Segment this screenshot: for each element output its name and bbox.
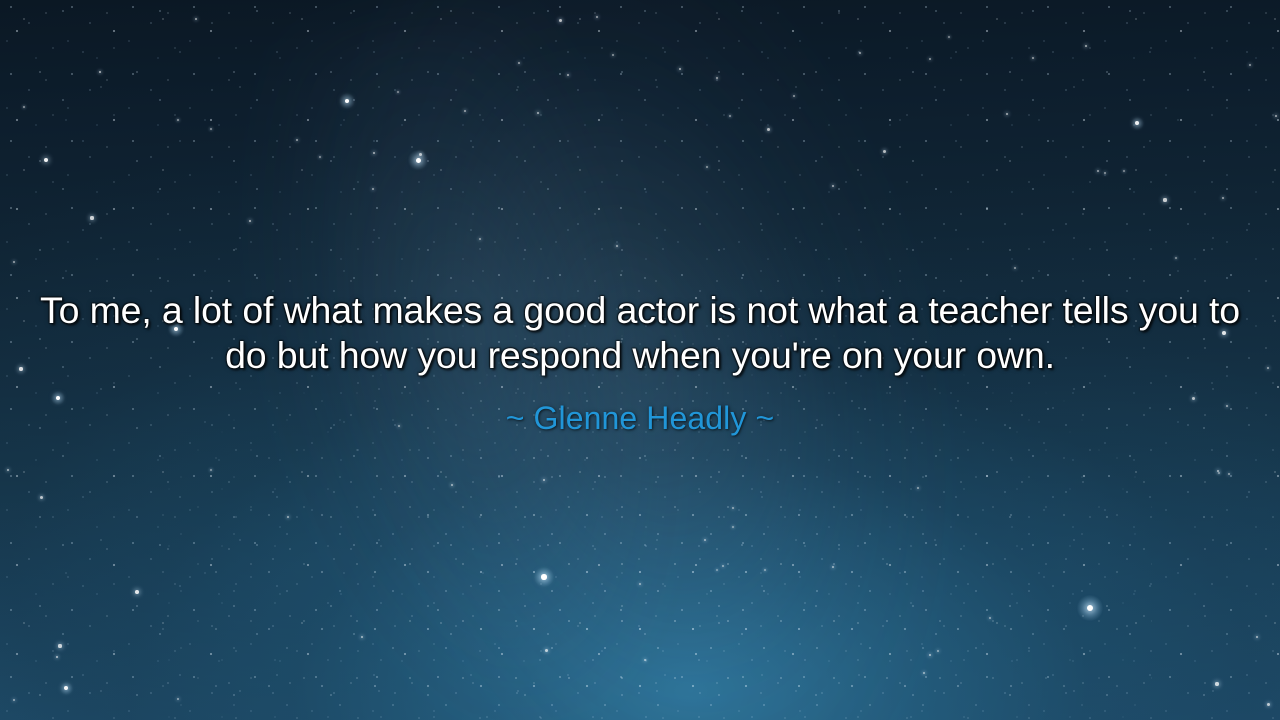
quote-attribution: ~ Glenne Headly ~: [0, 399, 1280, 437]
quote-text: To me, a lot of what makes a good actor …: [0, 288, 1280, 378]
quote-block: To me, a lot of what makes a good actor …: [0, 288, 1280, 437]
quote-image-canvas: To me, a lot of what makes a good actor …: [0, 0, 1280, 720]
